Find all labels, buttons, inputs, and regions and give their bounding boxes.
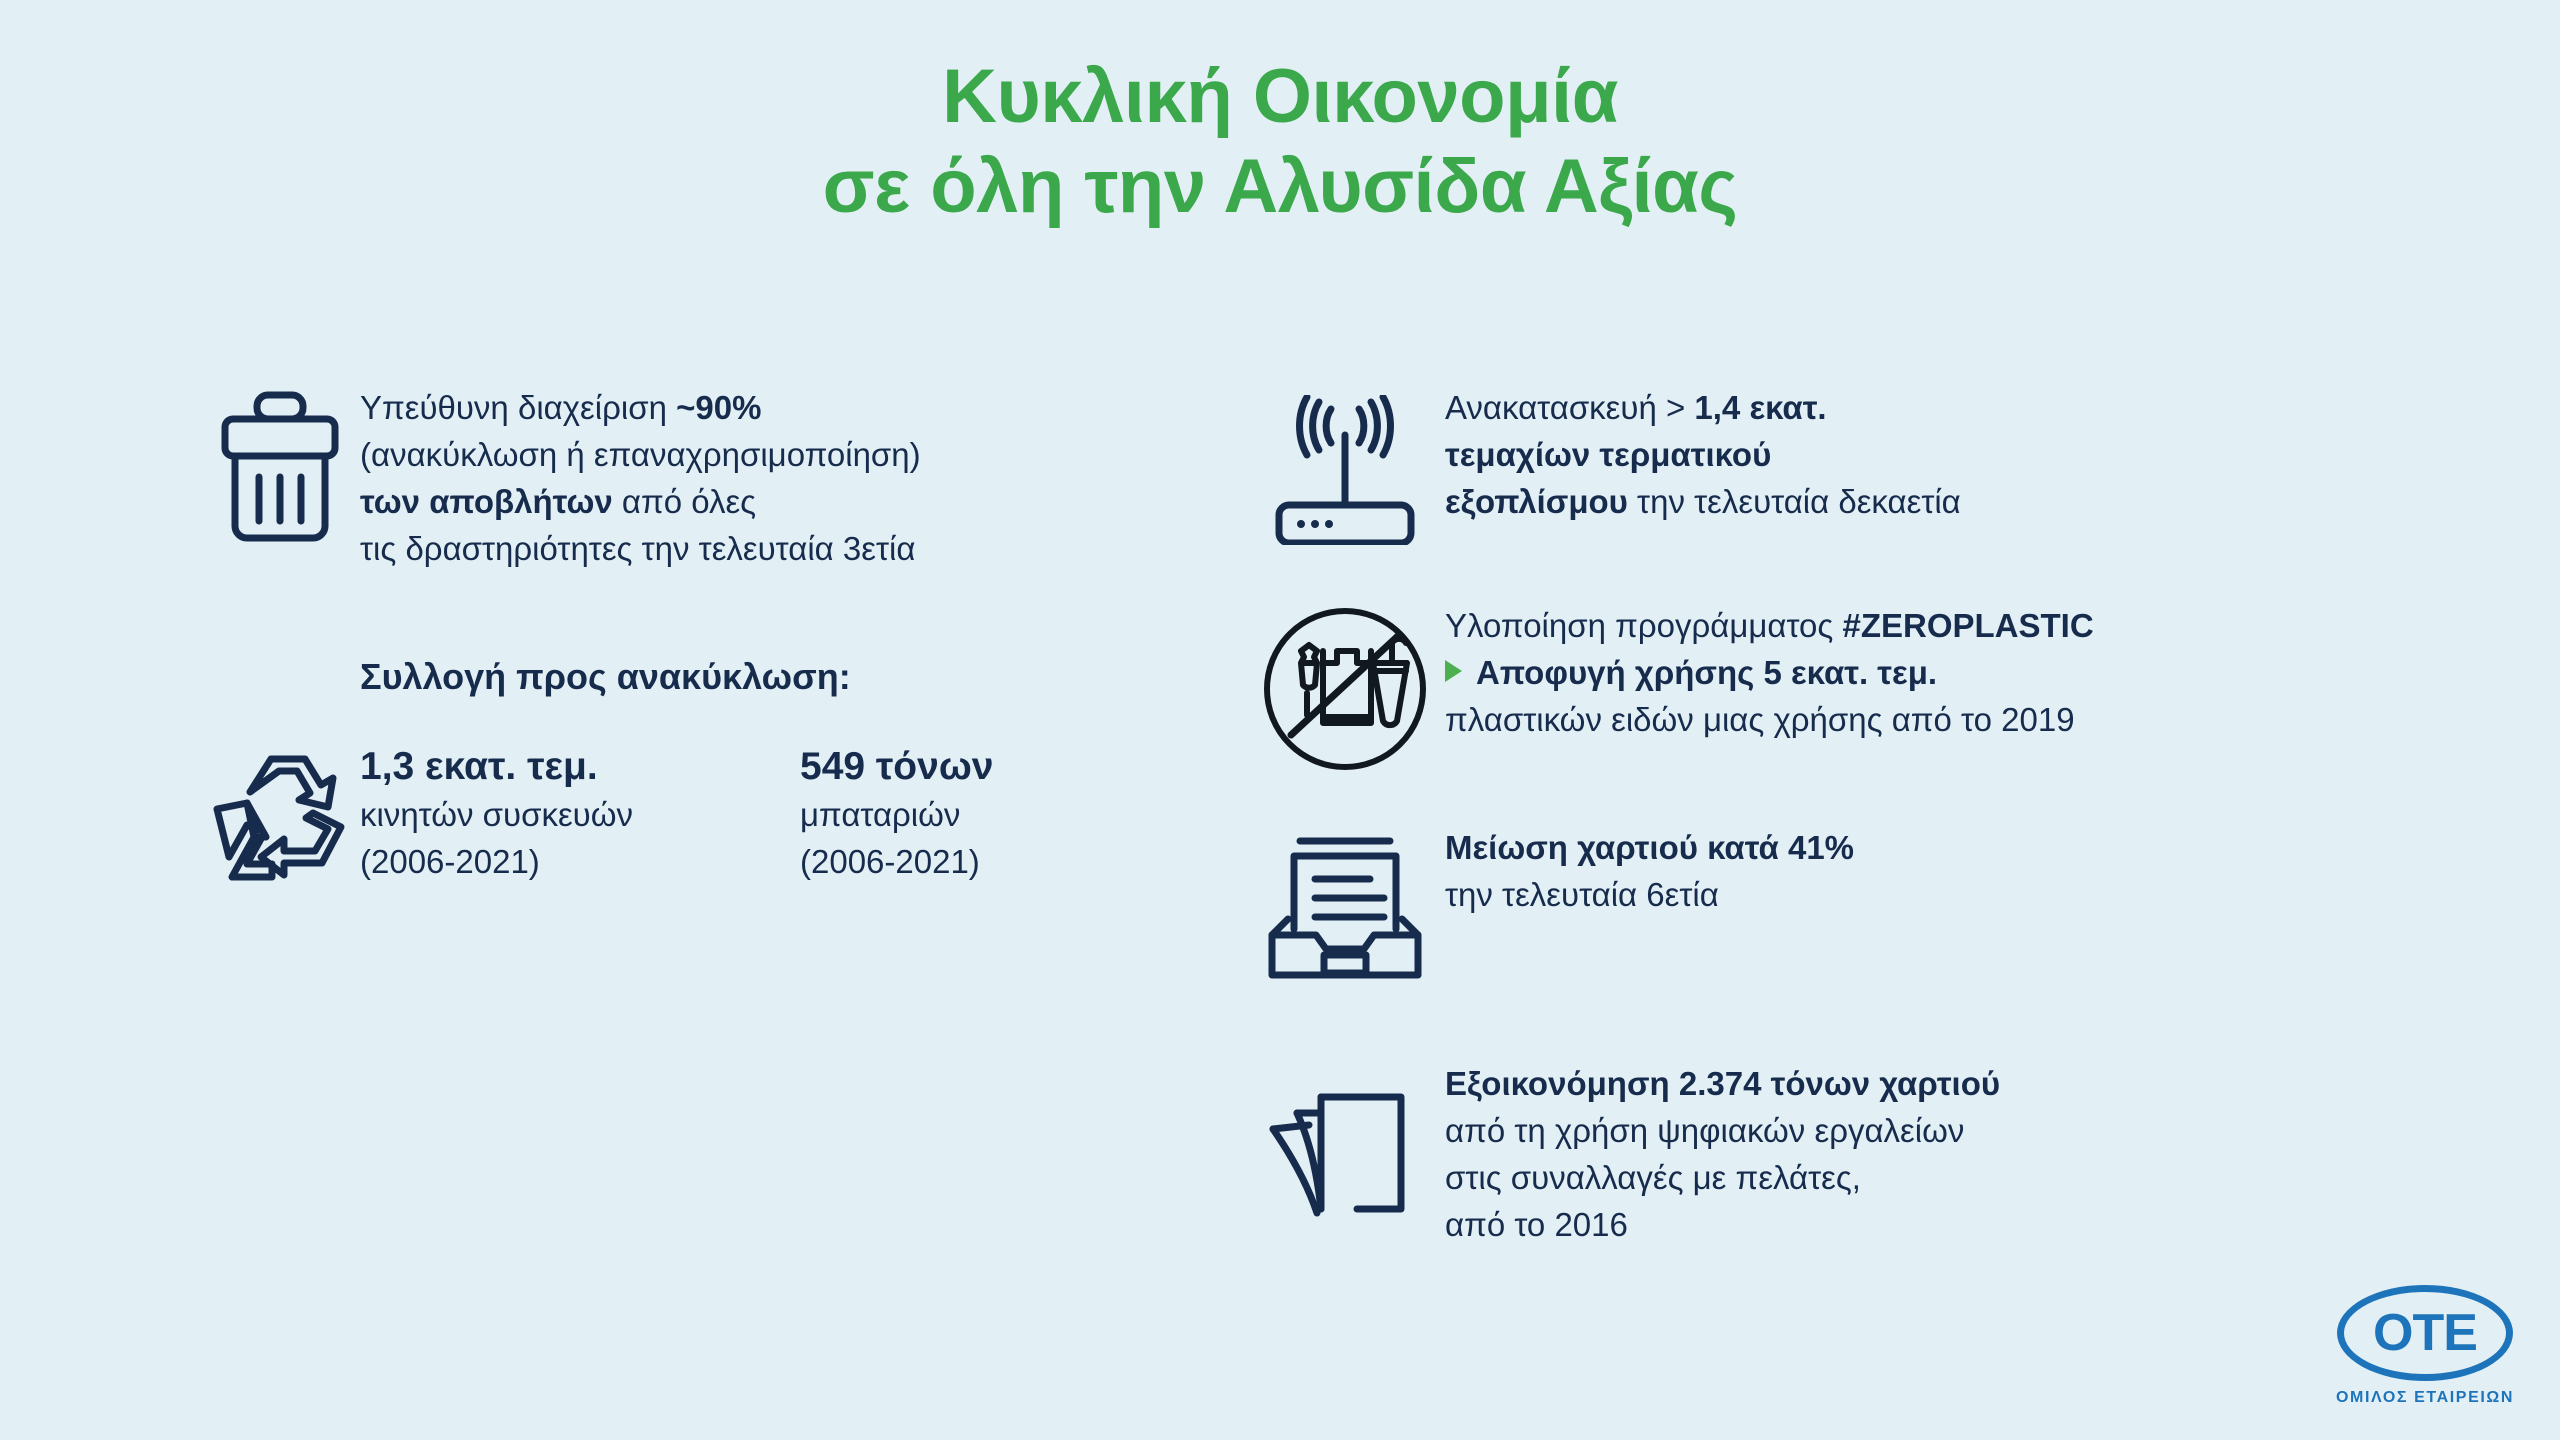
- waste-line-4: τις δραστηριότητες την τελευταία 3ετία: [360, 526, 1200, 573]
- recycling-heading-row: Συλλογή προς ανακύκλωση:: [360, 654, 1200, 701]
- paper-saving-line-4: από το 2016: [1445, 1202, 2535, 1249]
- zeroplastic-line-1: Υλοποίηση προγράμματος #ZEROPLASTIC: [1445, 603, 2535, 650]
- trash-bin-icon: [200, 385, 360, 544]
- paper-reduction-line-2: την τελευταία 6ετία: [1445, 872, 2535, 919]
- paper-saving-line-1: Εξοικονόμηση 2.374 τόνων χαρτιού: [1445, 1061, 2535, 1108]
- ote-logo-oval: OTE: [2337, 1285, 2513, 1381]
- no-plastic-icon: [1245, 603, 1445, 773]
- fact-refurbishment-text: Ανακατασκευή > 1,4 εκατ. τεμαχίων τερματ…: [1445, 385, 2535, 526]
- fact-paper-saving: Εξοικονόμηση 2.374 τόνων χαρτιού από τη …: [1245, 1061, 2535, 1248]
- fact-paper-saving-text: Εξοικονόμηση 2.374 τόνων χαρτιού από τη …: [1445, 1061, 2535, 1248]
- file-tray-icon: [1245, 825, 1445, 983]
- infographic-page: Κυκλική Οικονομία σε όλη την Αλυσίδα Αξί…: [0, 0, 2560, 1440]
- recycling-symbol-icon: [200, 743, 360, 883]
- fact-zeroplastic-text: Υλοποίηση προγράμματος #ZEROPLASTIC Αποφ…: [1445, 603, 2535, 744]
- stat-label: κινητών συσκευών: [360, 792, 690, 839]
- zeroplastic-line-3: πλαστικών ειδών μιας χρήσης από το 2019: [1445, 697, 2535, 744]
- title-line-2: σε όλη την Αλυσίδα Αξίας: [0, 142, 2560, 232]
- fact-waste-management: Υπεύθυνη διαχείριση ~90% (ανακύκλωση ή ε…: [200, 385, 1200, 572]
- waste-line-3: των αποβλήτων από όλες: [360, 479, 1200, 526]
- fact-paper-reduction-text: Μείωση χαρτιού κατά 41% την τελευταία 6ε…: [1445, 825, 2535, 919]
- ote-logo-subtitle: ΟΜΙΛΟΣ ΕΤΑΙΡΕΙΩΝ: [2320, 1389, 2530, 1407]
- fact-refurbishment: Ανακατασκευή > 1,4 εκατ. τεμαχίων τερματ…: [1245, 385, 2535, 545]
- waste-line-1: Υπεύθυνη διαχείριση ~90%: [360, 385, 1200, 432]
- ote-logo-text: OTE: [2344, 1307, 2506, 1359]
- left-column: Υπεύθυνη διαχείριση ~90% (ανακύκλωση ή ε…: [200, 385, 1200, 886]
- recycling-stat-mobile-devices: 1,3 εκατ. τεμ. κινητών συσκευών (2006-20…: [360, 743, 690, 885]
- recycling-stat-batteries: 549 τόνων μπαταριών (2006-2021): [800, 743, 1130, 885]
- stat-value: 1,3 εκατ. τεμ.: [360, 743, 690, 792]
- right-column: Ανακατασκευή > 1,4 εκατ. τεμαχίων τερματ…: [1245, 385, 2535, 1248]
- stat-period: (2006-2021): [360, 839, 690, 886]
- zeroplastic-bullet-text: Αποφυγή χρήσης 5 εκατ. τεμ.: [1476, 650, 1937, 697]
- recycling-stats: 1,3 εκατ. τεμ. κινητών συσκευών (2006-20…: [360, 743, 1200, 885]
- ote-logo: OTE ΟΜΙΛΟΣ ΕΤΑΙΡΕΙΩΝ: [2320, 1285, 2530, 1407]
- fact-zeroplastic: Υλοποίηση προγράμματος #ZEROPLASTIC Αποφ…: [1245, 603, 2535, 773]
- router-icon: [1245, 385, 1445, 545]
- green-triangle-bullet-icon: [1445, 660, 1462, 682]
- paper-reduction-line-1: Μείωση χαρτιού κατά 41%: [1445, 825, 2535, 872]
- zeroplastic-line-2: Αποφυγή χρήσης 5 εκατ. τεμ.: [1445, 650, 2535, 697]
- waste-line-2: (ανακύκλωση ή επαναχρησιμοποίηση): [360, 432, 1200, 479]
- paper-sheets-icon: [1245, 1061, 1445, 1237]
- fact-recycling-collection: 1,3 εκατ. τεμ. κινητών συσκευών (2006-20…: [200, 743, 1200, 885]
- fact-paper-reduction: Μείωση χαρτιού κατά 41% την τελευταία 6ε…: [1245, 825, 2535, 983]
- stat-label: μπαταριών: [800, 792, 1130, 839]
- stat-period: (2006-2021): [800, 839, 1130, 886]
- paper-saving-line-2: από τη χρήση ψηφιακών εργαλείων: [1445, 1108, 2535, 1155]
- fact-waste-management-text: Υπεύθυνη διαχείριση ~90% (ανακύκλωση ή ε…: [360, 385, 1200, 572]
- recycling-heading: Συλλογή προς ανακύκλωση:: [360, 654, 1200, 701]
- stat-value: 549 τόνων: [800, 743, 1130, 792]
- refurbishment-line-1: Ανακατασκευή > 1,4 εκατ.: [1445, 385, 2535, 432]
- title-line-1: Κυκλική Οικονομία: [0, 52, 2560, 142]
- refurbishment-line-2: τεμαχίων τερματικού: [1445, 432, 2535, 479]
- page-title: Κυκλική Οικονομία σε όλη την Αλυσίδα Αξί…: [0, 52, 2560, 231]
- refurbishment-line-3: εξοπλίσμου την τελευταία δεκαετία: [1445, 479, 2535, 526]
- paper-saving-line-3: στις συναλλαγές με πελάτες,: [1445, 1155, 2535, 1202]
